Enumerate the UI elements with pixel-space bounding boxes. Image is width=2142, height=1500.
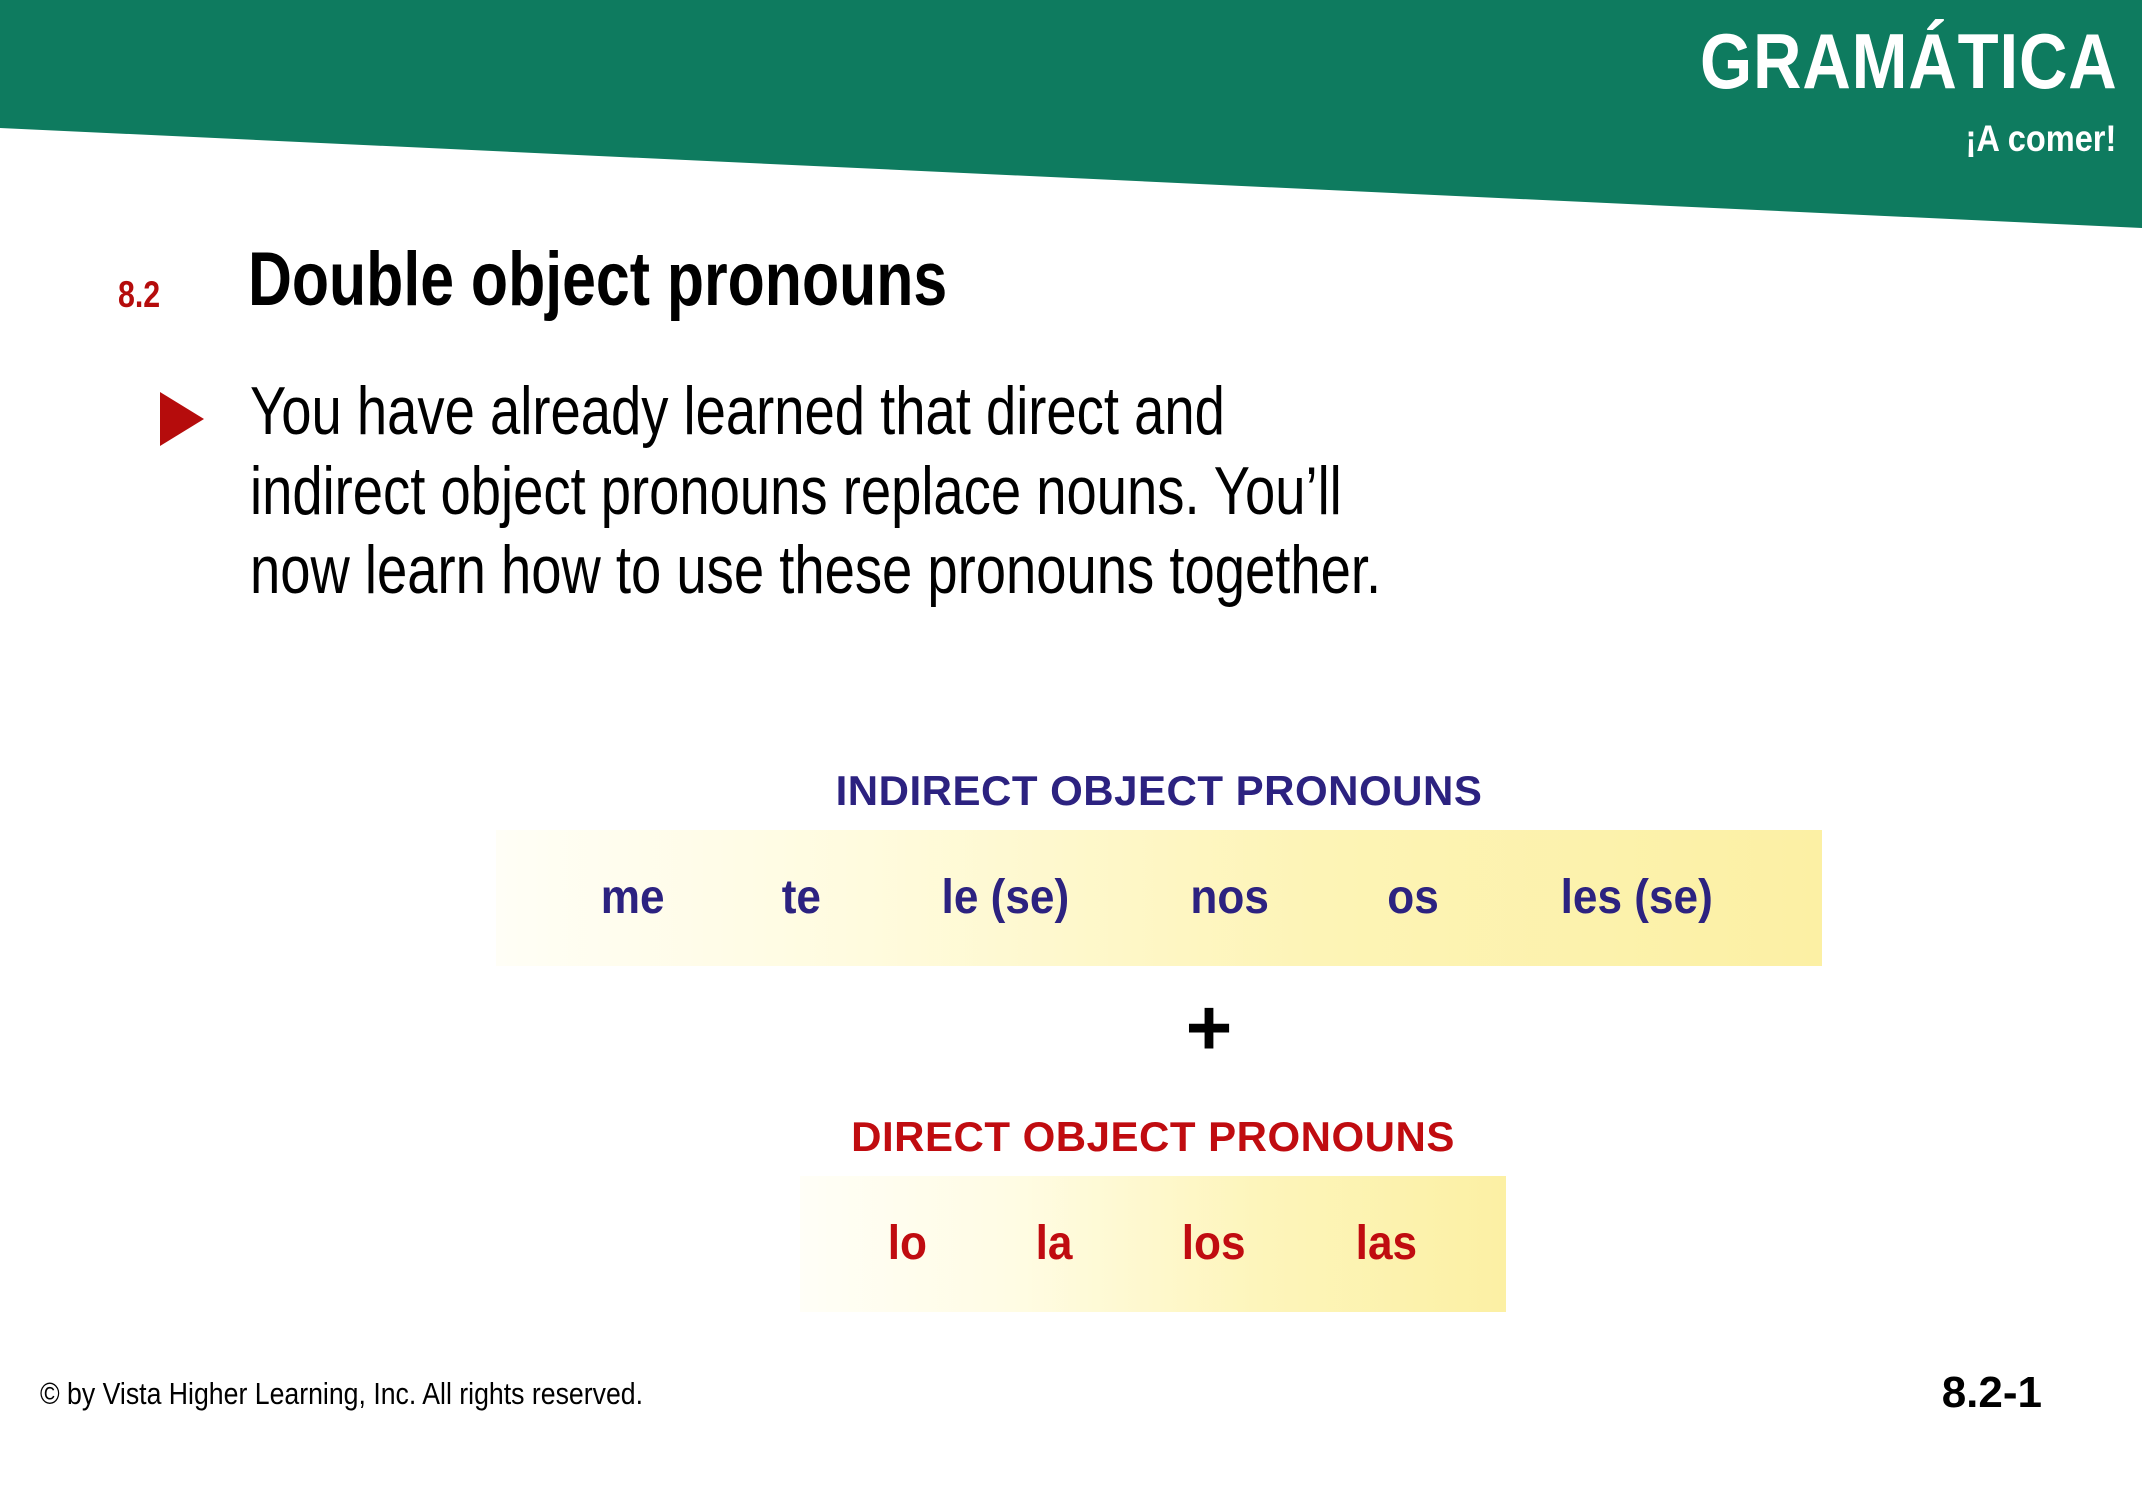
direct-object-pronouns-heading: DIRECT OBJECT PRONOUNS bbox=[800, 1116, 1506, 1158]
pronoun-item: las bbox=[1355, 1220, 1416, 1268]
pronoun-item: nos bbox=[1191, 874, 1270, 922]
pronoun-item: los bbox=[1181, 1220, 1245, 1268]
slide-title-row: 8.2 Double object pronouns bbox=[0, 232, 2142, 342]
plus-operator-symbol: + bbox=[0, 988, 2142, 1068]
direct-object-pronouns-group: DIRECT OBJECT PRONOUNS bbox=[800, 1116, 1506, 1176]
indirect-object-pronouns-group: INDIRECT OBJECT PRONOUNS bbox=[496, 770, 1822, 830]
copyright-notice: © by Vista Higher Learning, Inc. All rig… bbox=[40, 1376, 643, 1412]
pronoun-item: la bbox=[1035, 1220, 1072, 1268]
direct-object-pronouns-band: lo la los las bbox=[800, 1176, 1506, 1312]
pronoun-item: lo bbox=[888, 1220, 927, 1268]
page-title: Double object pronouns bbox=[248, 234, 947, 325]
indirect-object-pronouns-heading: INDIRECT OBJECT PRONOUNS bbox=[496, 770, 1822, 812]
bullet-paragraph-text: You have already learned that direct and… bbox=[250, 372, 1658, 611]
course-section-title: GRAMÁTICA bbox=[1700, 22, 2118, 100]
section-number: 8.2 bbox=[118, 274, 160, 316]
indirect-object-pronouns-band: me te le (se) nos os les (se) bbox=[496, 830, 1822, 966]
pronoun-item: te bbox=[782, 874, 821, 922]
pronoun-item: les (se) bbox=[1561, 874, 1713, 922]
pronoun-item: os bbox=[1388, 874, 1440, 922]
right-triangle-bullet-icon bbox=[160, 392, 204, 446]
slide-page-number: 8.2-1 bbox=[1942, 1368, 2042, 1418]
course-unit-subtitle: ¡A comer! bbox=[1965, 120, 2116, 157]
pronoun-item: me bbox=[601, 874, 665, 922]
pronoun-item: le (se) bbox=[941, 874, 1069, 922]
